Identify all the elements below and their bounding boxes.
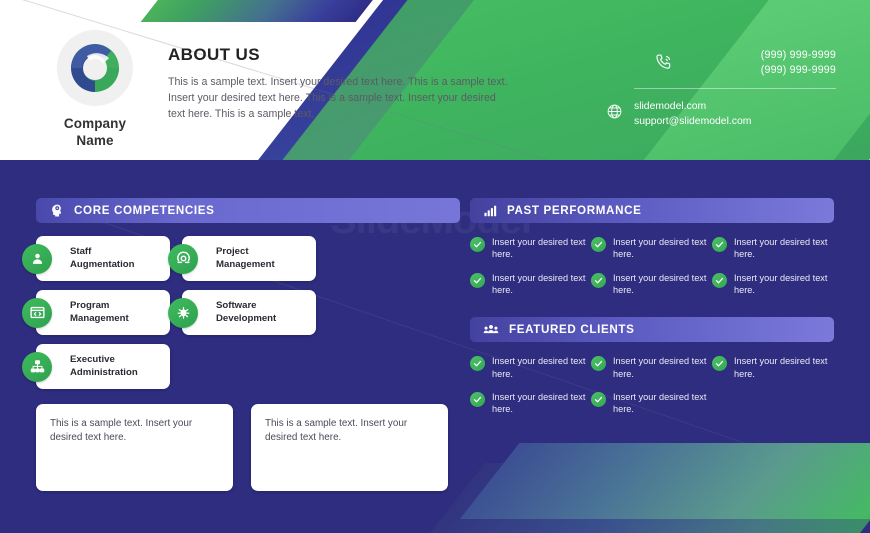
- list-item: Insert your desired text here.: [591, 355, 712, 380]
- list-item: Insert your desired text here.: [591, 236, 712, 261]
- list-item: Insert your desired text here.: [470, 272, 591, 297]
- past-performance-header: PAST PERFORMANCE: [470, 198, 834, 223]
- bug-network-icon: [168, 298, 198, 328]
- logo-circle: [57, 30, 133, 106]
- sample-note-text: This is a sample text. Insert your desir…: [50, 417, 219, 446]
- phone-row: (999) 999-9999 (999) 999-9999: [606, 48, 836, 79]
- competency-card[interactable]: SoftwareDevelopment: [182, 290, 316, 335]
- logo-block: CompanyName: [48, 30, 142, 150]
- list-item-text: Insert your desired text here.: [492, 355, 591, 380]
- sample-note-text: This is a sample text. Insert your desir…: [265, 417, 434, 446]
- gear-cycle-icon: [168, 244, 198, 274]
- past-performance-title: PAST PERFORMANCE: [507, 204, 642, 217]
- list-item-text: Insert your desired text here.: [492, 236, 591, 261]
- check-icon: [591, 392, 606, 407]
- competency-card-label: StaffAugmentation: [70, 246, 135, 271]
- competency-card-list: StaffAugmentation ProjectManagement: [36, 236, 460, 389]
- phone-icon: [653, 52, 674, 78]
- org-chart-icon: [22, 352, 52, 382]
- core-competencies-title: CORE COMPETENCIES: [74, 204, 215, 217]
- list-item: Insert your desired text here.: [591, 272, 712, 297]
- competency-card[interactable]: ExecutiveAdministration: [36, 344, 170, 389]
- list-item-text: Insert your desired text here.: [492, 391, 591, 416]
- check-icon: [712, 356, 727, 371]
- right-column: PAST PERFORMANCE Insert your desired tex…: [470, 198, 834, 427]
- check-icon: [591, 356, 606, 371]
- circular-swirl-logo-icon: [57, 30, 133, 106]
- list-item-text: Insert your desired text here.: [613, 355, 712, 380]
- company-name: CompanyName: [48, 116, 142, 150]
- phone-numbers: (999) 999-9999 (999) 999-9999: [761, 48, 836, 79]
- website-link[interactable]: slidemodel.com: [634, 99, 751, 114]
- list-item-text: Insert your desired text here.: [734, 236, 833, 261]
- code-window-icon: [22, 298, 52, 328]
- phone-1: (999) 999-9999: [761, 48, 836, 63]
- core-competencies-section: CORE COMPETENCIES StaffAugmentation: [36, 198, 460, 491]
- check-icon: [591, 237, 606, 252]
- slide-body: SlideModel CORE COMPETENCIES: [0, 160, 870, 489]
- list-item-text: Insert your desired text here.: [492, 272, 591, 297]
- list-item: Insert your desired text here.: [591, 391, 712, 416]
- about-block: ABOUT US This is a sample text. Insert y…: [168, 45, 508, 122]
- list-item-text: Insert your desired text here.: [613, 272, 712, 297]
- check-icon: [591, 273, 606, 288]
- email-link[interactable]: support@slidemodel.com: [634, 114, 751, 129]
- header-top-accent-bar: [141, 0, 375, 22]
- list-item-text: Insert your desired text here.: [734, 272, 833, 297]
- list-item: Insert your desired text here.: [712, 236, 833, 261]
- competency-card-label: SoftwareDevelopment: [216, 300, 276, 325]
- list-item: Insert your desired text here.: [712, 355, 833, 380]
- list-item: Insert your desired text here.: [470, 391, 591, 416]
- list-item-text: Insert your desired text here.: [734, 355, 833, 380]
- sample-note-box[interactable]: This is a sample text. Insert your desir…: [36, 404, 233, 491]
- competency-card[interactable]: ProgramManagement: [36, 290, 170, 335]
- bottom-diagonal-front: [460, 443, 870, 519]
- list-item: Insert your desired text here.: [470, 236, 591, 261]
- about-body-text: This is a sample text. Insert your desir…: [168, 74, 508, 122]
- web-row: slidemodel.com support@slidemodel.com: [606, 99, 836, 129]
- globe-icon: [606, 103, 623, 125]
- check-icon: [470, 273, 485, 288]
- list-item: Insert your desired text here.: [470, 355, 591, 380]
- section-spacer: [470, 307, 834, 317]
- check-icon: [470, 356, 485, 371]
- user-badge-icon: [22, 244, 52, 274]
- featured-clients-list: Insert your desired text here. Insert yo…: [470, 355, 834, 426]
- competency-card-label: ProjectManagement: [216, 246, 275, 271]
- web-lines: slidemodel.com support@slidemodel.com: [634, 99, 751, 129]
- head-gear-icon: [49, 203, 64, 218]
- contact-divider: [634, 88, 836, 89]
- contact-block: (999) 999-9999 (999) 999-9999 slidemodel…: [606, 48, 836, 129]
- about-title: ABOUT US: [168, 45, 508, 65]
- featured-clients-header: FEATURED CLIENTS: [470, 317, 834, 342]
- list-item-text: Insert your desired text here.: [613, 391, 712, 416]
- past-performance-list: Insert your desired text here. Insert yo…: [470, 236, 834, 307]
- bar-chart-icon: [483, 204, 497, 218]
- phone-2: (999) 999-9999: [761, 63, 836, 78]
- competency-card-label: ExecutiveAdministration: [70, 354, 138, 379]
- slide-header: CompanyName ABOUT US This is a sample te…: [0, 0, 870, 160]
- competency-card[interactable]: StaffAugmentation: [36, 236, 170, 281]
- competency-card-label: ProgramManagement: [70, 300, 129, 325]
- competency-card[interactable]: ProjectManagement: [182, 236, 316, 281]
- featured-clients-title: FEATURED CLIENTS: [509, 323, 634, 336]
- check-icon: [470, 237, 485, 252]
- check-icon: [712, 237, 727, 252]
- core-competencies-header: CORE COMPETENCIES: [36, 198, 460, 223]
- sample-note-box[interactable]: This is a sample text. Insert your desir…: [251, 404, 448, 491]
- list-item: Insert your desired text here.: [712, 272, 833, 297]
- sample-note-list: This is a sample text. Insert your desir…: [36, 404, 460, 491]
- check-icon: [470, 392, 485, 407]
- list-item-text: Insert your desired text here.: [613, 236, 712, 261]
- people-group-icon: [483, 322, 499, 338]
- check-icon: [712, 273, 727, 288]
